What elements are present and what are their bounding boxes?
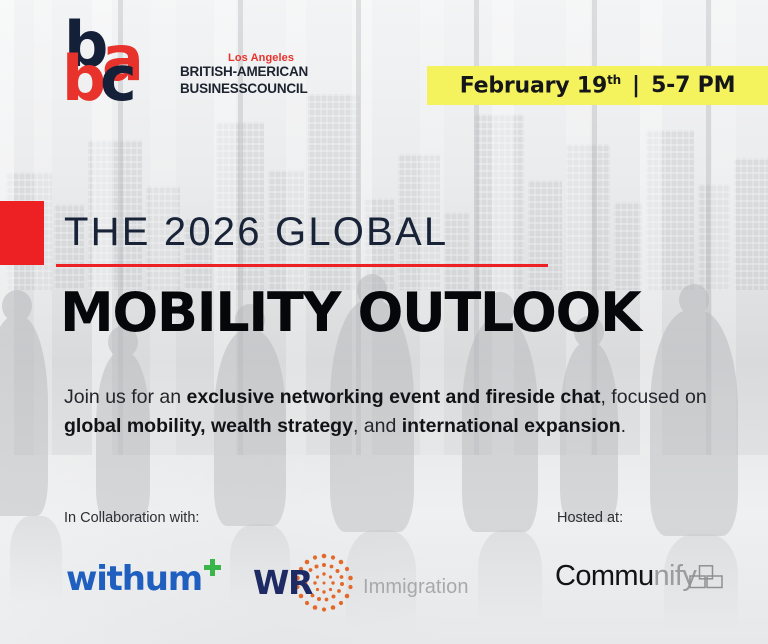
- description-bold-3: international expansion: [402, 415, 621, 437]
- babc-name-line-2: BUSINESSCOUNCIL: [180, 81, 320, 98]
- event-poster: b a b c Los Angeles BRITISH-AMERICAN BUS…: [0, 0, 768, 644]
- event-date-banner: February 19th | 5-7 PM: [427, 66, 768, 105]
- wr-wordmark: WR: [253, 566, 312, 599]
- communify-logo[interactable]: Communify: [555, 562, 696, 602]
- page-title: MOBILITY OUTLOOK: [60, 281, 640, 344]
- description-seg-4: .: [621, 415, 626, 437]
- overlapping-squares-icon: [689, 565, 723, 591]
- event-time: 5-7 PM: [651, 73, 735, 98]
- description-bold-1: exclusive networking event and fireside …: [186, 386, 600, 408]
- babc-logo-mark: b a b c: [62, 18, 180, 110]
- babc-letter-c: c: [100, 48, 137, 110]
- babc-logo-wordmark: Los Angeles BRITISH-AMERICAN BUSINESSCOU…: [180, 52, 320, 98]
- event-date: February 19th: [460, 73, 621, 98]
- description-seg-1: Join us for an: [64, 386, 186, 408]
- babc-city-label: Los Angeles: [228, 52, 320, 64]
- description-bold-2: global mobility, wealth strategy: [64, 415, 353, 437]
- description-seg-2: , focused on: [600, 386, 706, 408]
- hosted-at-label: Hosted at:: [557, 510, 623, 526]
- banner-separator: |: [632, 73, 640, 98]
- withum-logo[interactable]: withum: [66, 562, 202, 602]
- event-description: Join us for an exclusive networking even…: [64, 383, 744, 441]
- babc-logo[interactable]: b a b c Los Angeles BRITISH-AMERICAN BUS…: [62, 18, 262, 110]
- communify-wordmark-dark: Commu: [555, 560, 654, 592]
- red-accent-block: [0, 201, 44, 265]
- headline-eyebrow: THE 2026 GLOBAL: [64, 210, 448, 255]
- plus-icon: [204, 559, 221, 576]
- description-seg-3: , and: [353, 415, 402, 437]
- red-divider-rule: [56, 264, 548, 267]
- withum-wordmark: withum: [66, 562, 202, 596]
- event-date-text: February 19: [460, 73, 607, 98]
- event-date-ordinal-suffix: th: [607, 73, 621, 87]
- collaboration-label: In Collaboration with:: [64, 510, 199, 526]
- babc-name-line-1: BRITISH-AMERICAN: [180, 64, 320, 81]
- wr-immigration-text: Immigration: [363, 576, 469, 599]
